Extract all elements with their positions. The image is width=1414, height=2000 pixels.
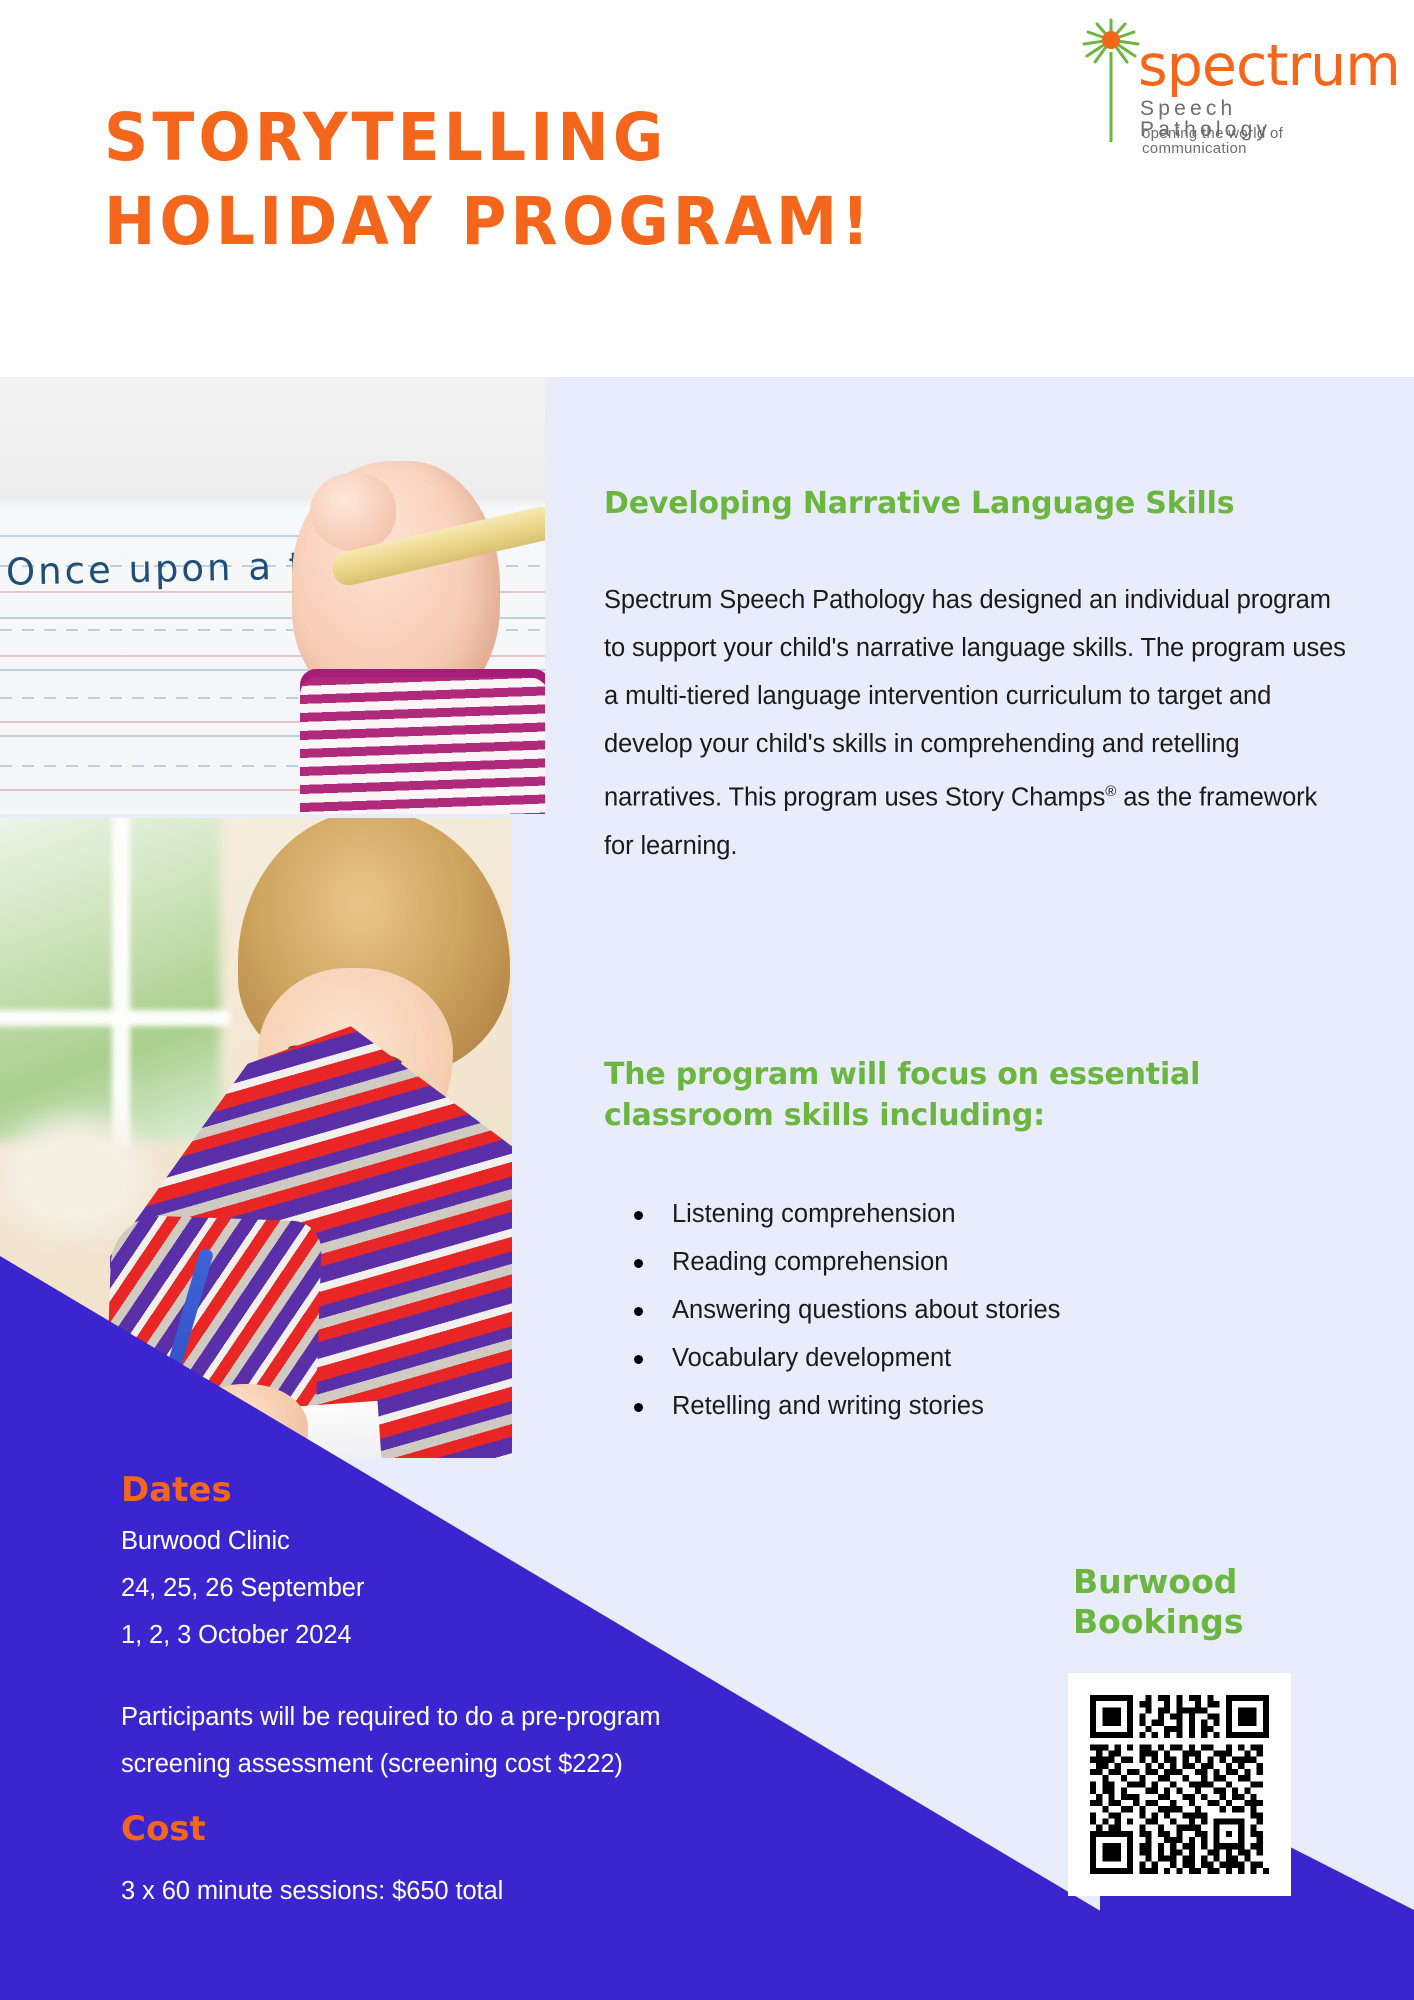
description-pre: Spectrum Speech Pathology has designed a… [604,586,1346,812]
header: STORYTELLING HOLIDAY PROGRAM! [0,0,1414,377]
list-item: Answering questions about stories [628,1286,1328,1334]
poster-root: STORYTELLING HOLIDAY PROGRAM! [0,0,1414,2000]
photo-child-writing: Once upon a tim [0,377,545,814]
dates-clinic: Burwood Clinic [121,1518,681,1565]
bookings-heading: Burwood Bookings [1073,1562,1373,1643]
screening-line-2: screening assessment (screening cost $22… [121,1741,841,1788]
dates-october: 1, 2, 3 October 2024 [121,1612,681,1659]
title-line-2: HOLIDAY PROGRAM! [104,180,1034,264]
skills-list: Listening comprehension Reading comprehe… [628,1190,1328,1430]
bookings-heading-line-1: Burwood [1073,1562,1373,1602]
list-item: Reading comprehension [628,1238,1328,1286]
screening-note: Participants will be required to do a pr… [121,1694,841,1788]
qr-code[interactable] [1090,1695,1269,1874]
logo-tagline: opening the world of communication [1142,126,1376,156]
cost-detail-line: 3 x 60 minute sessions: $650 total [121,1868,741,1915]
program-description: Spectrum Speech Pathology has designed a… [604,576,1346,870]
child-thumb [310,473,396,551]
list-item: Retelling and writing stories [628,1382,1328,1430]
logo: spectrum Speech Pathology opening the wo… [1076,16,1376,146]
title-line-1: STORYTELLING [104,96,1034,180]
section-heading-classroom-skills: The program will focus on essential clas… [604,1054,1304,1137]
dates-details: Burwood Clinic 24, 25, 26 September 1, 2… [121,1518,681,1659]
dandelion-flower-icon [1082,18,1140,144]
screening-line-1: Participants will be required to do a pr… [121,1694,841,1741]
qr-code-card[interactable] [1068,1673,1291,1896]
list-item: Listening comprehension [628,1190,1328,1238]
cost-heading: Cost [121,1812,206,1846]
cost-details: 3 x 60 minute sessions: $650 total [121,1868,741,1915]
striped-sleeve [300,677,545,814]
window [0,818,220,1142]
dates-september: 24, 25, 26 September [121,1565,681,1612]
page-title: STORYTELLING HOLIDAY PROGRAM! [104,96,1034,265]
dates-heading: Dates [121,1473,232,1507]
logo-wordmark: spectrum [1138,38,1400,95]
section-heading-narrative-skills: Developing Narrative Language Skills [604,483,1364,524]
list-item: Vocabulary development [628,1334,1328,1382]
registered-trademark: ® [1105,783,1116,800]
bookings-heading-line-2: Bookings [1073,1602,1373,1642]
